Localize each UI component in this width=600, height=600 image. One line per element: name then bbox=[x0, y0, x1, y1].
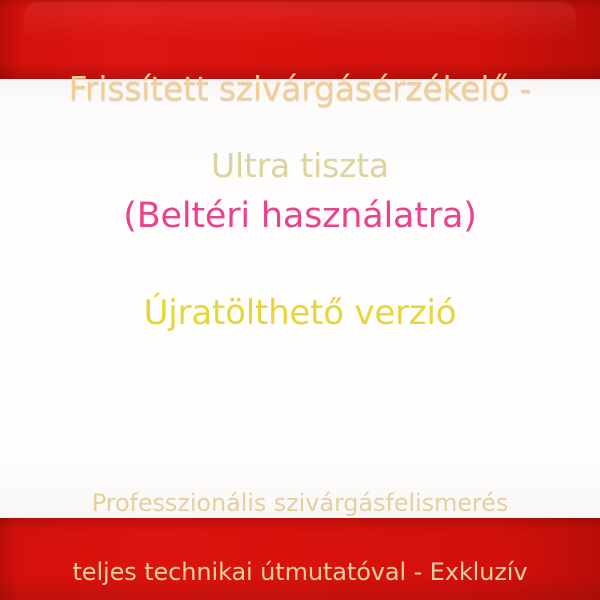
text-layer: Frissített szivárgásérzékelő - Ultra tis… bbox=[0, 0, 600, 600]
headline-line-1: Frissített szivárgásérzékelő - bbox=[69, 69, 532, 108]
footer-line-1: Professzionális szivárgásfelismerés bbox=[92, 489, 509, 517]
rechargeable-version-subhead: Újratölthető verzió bbox=[0, 294, 600, 333]
footer-note: Professzionális szivárgásfelismerés telj… bbox=[0, 452, 600, 600]
footer-line-2: teljes technikai útmutatóval - Exkluzív bbox=[73, 558, 528, 586]
promo-banner: Frissített szivárgásérzékelő - Ultra tis… bbox=[0, 0, 600, 600]
indoor-use-subhead: (Beltéri használatra) bbox=[0, 196, 600, 237]
headline-line-2: Ultra tiszta bbox=[211, 146, 389, 185]
headline: Frissített szivárgásérzékelő - Ultra tis… bbox=[0, 32, 600, 185]
